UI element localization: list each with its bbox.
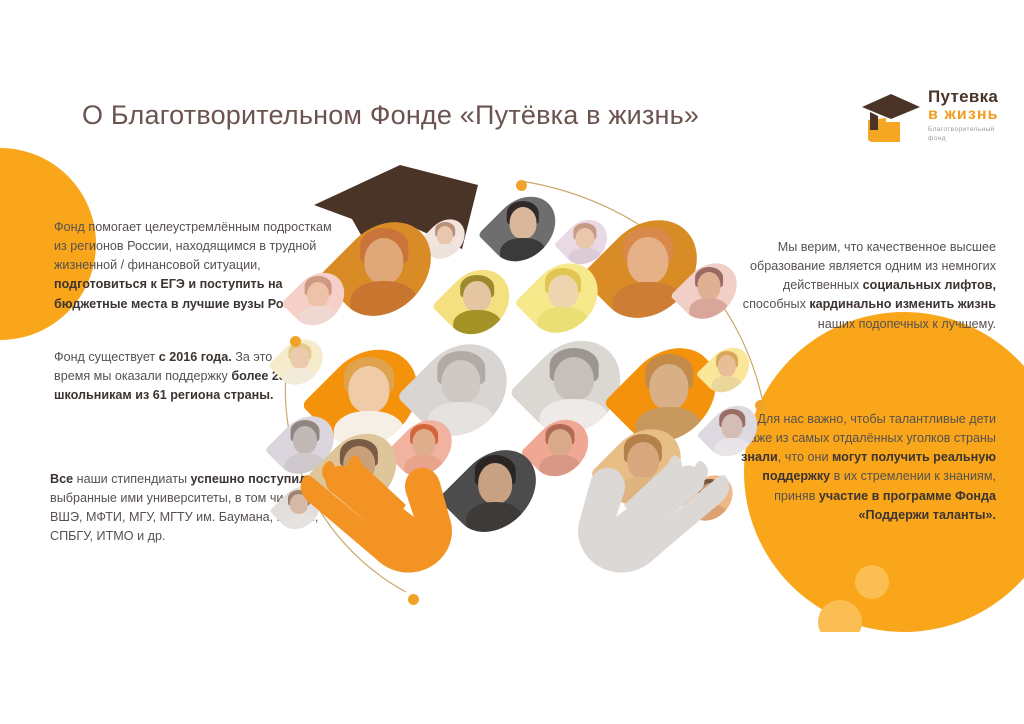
graduation-cap-logo-icon xyxy=(860,90,922,146)
text-run: подготовиться к ЕГЭ и поступить на бюдже… xyxy=(54,277,316,310)
text-run: кардинально изменить жизнь xyxy=(809,297,996,311)
connector-dot xyxy=(516,180,527,191)
infographic-canvas: О Благотворительном Фонде «Путёвка в жиз… xyxy=(0,0,1024,724)
text-run: Все xyxy=(50,472,73,486)
portrait-face xyxy=(605,215,691,323)
text-run: способных xyxy=(743,297,810,311)
text-block-important-for-us: Для нас важно, чтобы талантливые дети да… xyxy=(728,410,996,525)
portrait-face xyxy=(495,193,551,265)
central-illustration xyxy=(280,155,750,595)
decor-dot-small xyxy=(855,565,889,599)
text-run: с 2016 года. xyxy=(159,350,232,364)
text-run: наших подопечных к лучшему. xyxy=(818,317,996,331)
connector-dot xyxy=(755,400,766,411)
portrait-face xyxy=(708,345,746,395)
text-run: Фонд существует xyxy=(54,350,159,364)
text-run: Для нас важно, чтобы талантливые дети да… xyxy=(742,412,996,445)
connector-dot xyxy=(290,336,301,347)
text-run: , что они xyxy=(778,450,832,464)
hand-right xyxy=(578,455,729,572)
portrait-face xyxy=(448,267,506,337)
supporting-hands-icon xyxy=(290,455,740,595)
logo-wordmark: Путевка в жизнь Благотворительный фонд xyxy=(928,88,999,144)
portrait-face xyxy=(710,403,754,459)
bottom-white-mask xyxy=(0,632,1024,724)
logo-line-1: Путевка xyxy=(928,88,999,106)
portrait-face xyxy=(295,270,341,328)
hand-left xyxy=(301,455,452,572)
portrait-face xyxy=(532,260,594,336)
text-block-we-believe: Мы верим, что качественное высшее образо… xyxy=(728,238,996,334)
text-run: социальных лифтов, xyxy=(863,278,996,292)
logo-line-3: Благотворительный фонд xyxy=(928,126,999,144)
text-block-fund-since: Фонд существует с 2016 года. За это врем… xyxy=(54,348,304,405)
connector-dot xyxy=(408,594,419,605)
text-run: наши стипендиаты xyxy=(73,472,190,486)
text-run: участие в программе Фонда «Поддержи тала… xyxy=(819,489,996,522)
page-title: О Благотворительном Фонде «Путёвка в жиз… xyxy=(82,100,699,131)
logo[interactable]: Путевка в жизнь Благотворительный фонд xyxy=(860,88,1010,150)
logo-line-2: в жизнь xyxy=(928,106,999,124)
